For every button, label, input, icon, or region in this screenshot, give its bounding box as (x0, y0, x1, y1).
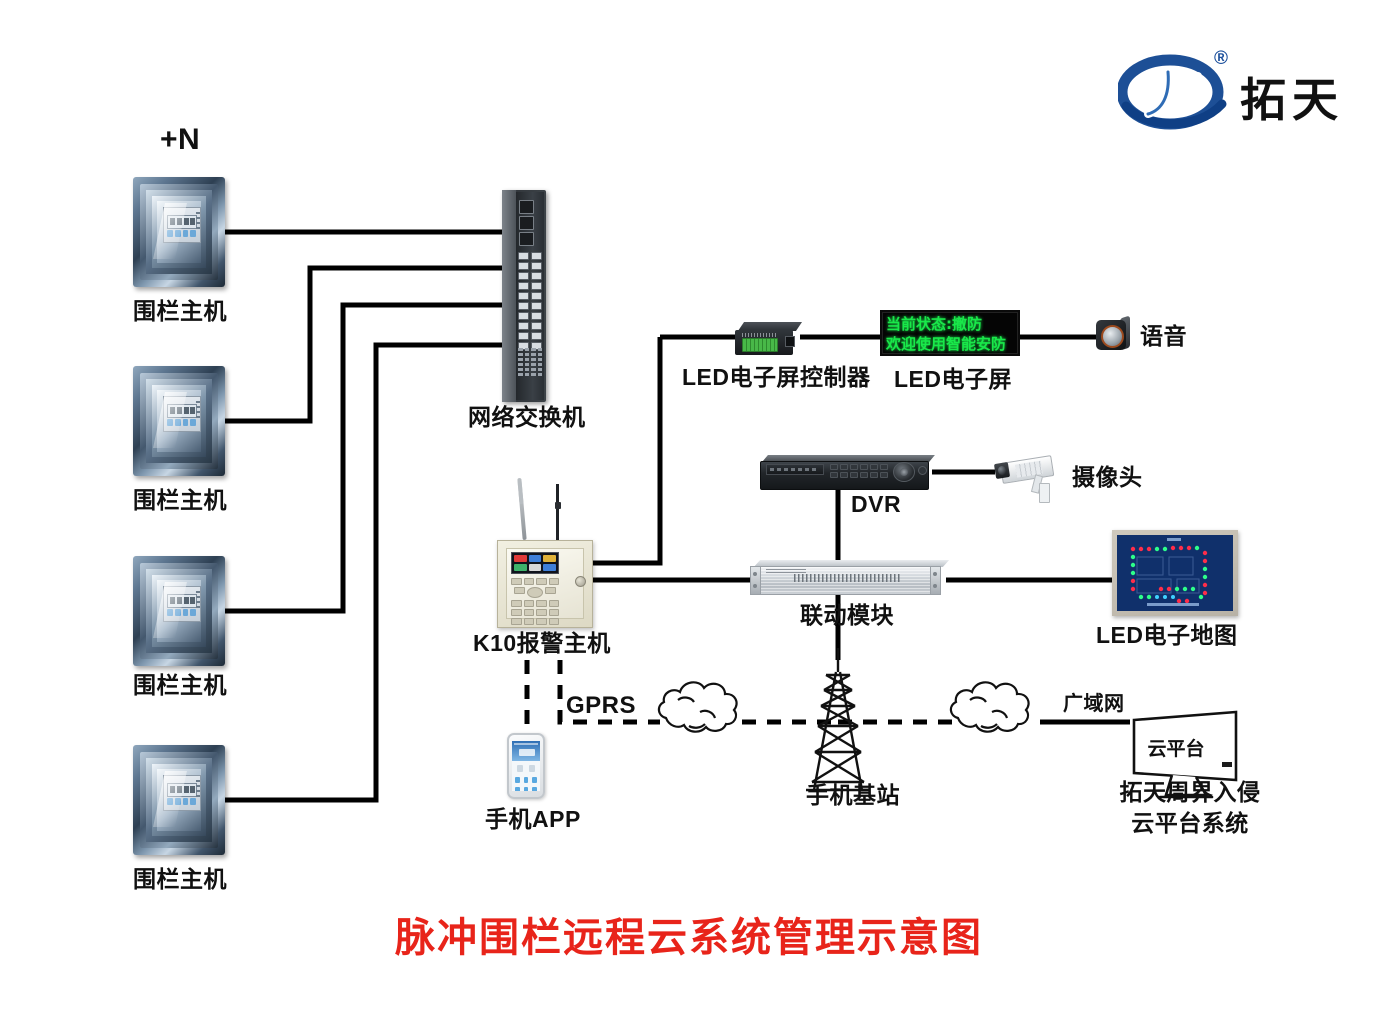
base-station-label: 手机基站 (806, 782, 900, 810)
camera-label: 摄像头 (1072, 464, 1143, 492)
cloud-platform-label-line1: 拓天周界入侵 (1090, 779, 1290, 807)
mobile-phone-app[interactable] (507, 733, 545, 799)
cloud-icon-1 (659, 682, 737, 731)
cloud-platform-screen-text: 云平台 (1130, 734, 1222, 761)
fence-host-4[interactable] (133, 745, 225, 855)
registered-mark: ® (1214, 48, 1228, 70)
wan-link-label: 广域网 (1063, 692, 1125, 716)
fence-host-2-label: 围栏主机 (133, 487, 227, 515)
k10-lock-knob[interactable] (575, 576, 586, 587)
network-switch[interactable] (502, 190, 546, 402)
k10-label: K10报警主机 (473, 630, 611, 658)
antenna-icon-1 (517, 478, 526, 540)
cctv-camera-icon (995, 455, 1067, 503)
cell-tower-icon (806, 648, 870, 790)
voice-speaker-icon (1096, 320, 1134, 354)
fence-host-3[interactable] (133, 556, 225, 666)
speaker-label: 语音 (1140, 323, 1187, 351)
led-line-2: 欢迎使用智能安防 (886, 334, 1014, 354)
diagram-title: 脉冲围栏远程云系统管理示意图 (0, 905, 1378, 963)
brand-name: 拓天 (1240, 64, 1344, 130)
linkage-module[interactable] (750, 560, 946, 594)
dvr-device[interactable] (760, 455, 932, 489)
gprs-link-label: GPRS (566, 692, 636, 721)
fence-host-1[interactable] (133, 177, 225, 287)
led-controller-label: LED电子屏控制器 (682, 364, 871, 392)
cloud-icon-2 (951, 682, 1029, 731)
fence-host-2[interactable] (133, 366, 225, 476)
antenna-icon-2 (556, 484, 560, 540)
brand-logo: ® 拓天 (1118, 48, 1358, 138)
dvr-label: DVR (851, 491, 901, 519)
phone-app-label: 手机APP (485, 806, 581, 834)
led-screen-label: LED电子屏 (894, 366, 1012, 394)
fence-host-1-label: 围栏主机 (133, 298, 227, 326)
dvr-jog-dial[interactable] (893, 462, 915, 482)
cloud-platform-label-line2: 云平台系统 (1090, 810, 1290, 838)
k10-alarm-host[interactable] (497, 540, 593, 628)
fence-host-3-label: 围栏主机 (133, 672, 227, 700)
fence-host-4-label: 围栏主机 (133, 866, 227, 894)
network-switch-label: 网络交换机 (468, 404, 586, 432)
diagram-canvas: ® 拓天 +N 围栏主机 围栏主机 围栏主机 (0, 0, 1378, 1034)
plus-n-label: +N (160, 122, 200, 158)
linkage-module-label: 联动模块 (800, 602, 894, 630)
k10-keypad[interactable] (511, 578, 559, 614)
led-line-1: 当前状态:撤防 (886, 314, 1014, 334)
led-display-screen: 当前状态:撤防 欢迎使用智能安防 (880, 310, 1020, 356)
k10-display (511, 552, 559, 574)
led-electronic-map (1112, 530, 1238, 616)
led-screen-controller[interactable] (735, 322, 799, 356)
led-map-label: LED电子地图 (1096, 622, 1238, 650)
